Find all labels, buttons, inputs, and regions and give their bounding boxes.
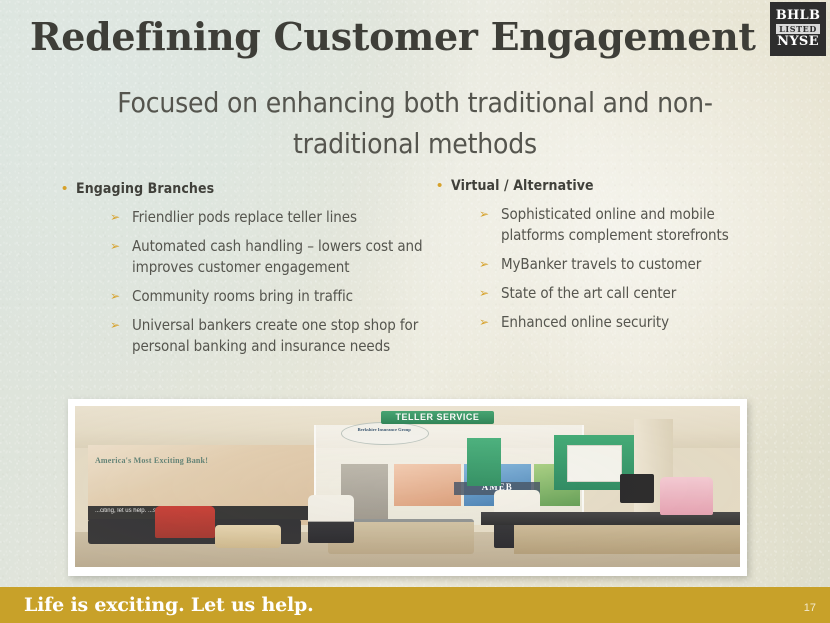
bullet-heading: • Virtual / Alternative [437, 177, 767, 195]
list-item: ➢ Enhanced online security [479, 312, 767, 333]
bullet-heading-label: Virtual / Alternative [451, 177, 594, 195]
page-subtitle: Focused on enhancing both traditional an… [85, 82, 745, 164]
arrow-bullet-icon: ➢ [110, 207, 132, 228]
list-item-label: Friendlier pods replace teller lines [132, 207, 357, 228]
list-item: ➢ State of the art call center [479, 283, 767, 304]
bullet-column-left: • Engaging Branches ➢ Friendlier pods re… [62, 180, 447, 365]
list-item: ➢ Community rooms bring in traffic [110, 286, 447, 307]
logo-ticker: BHLB [776, 9, 821, 23]
arrow-bullet-icon: ➢ [479, 283, 501, 304]
bullet-column-right: • Virtual / Alternative ➢ Sophisticated … [437, 177, 767, 341]
list-item-label: State of the art call center [501, 283, 676, 304]
footer-tagline: Life is exciting. Let us help. [24, 594, 314, 616]
arrow-bullet-icon: ➢ [479, 204, 501, 225]
list-item-label: Enhanced online security [501, 312, 669, 333]
branch-photo: America's Most Exciting Bank! ...citing,… [75, 406, 740, 567]
arrow-bullet-icon: ➢ [110, 236, 132, 257]
list-item-label: MyBanker travels to customer [501, 254, 701, 275]
arrow-bullet-icon: ➢ [479, 312, 501, 333]
list-item-label: Community rooms bring in traffic [132, 286, 353, 307]
branch-photo-frame: America's Most Exciting Bank! ...citing,… [68, 399, 747, 576]
list-item: ➢ Universal bankers create one stop shop… [110, 315, 447, 357]
list-item: ➢ Sophisticated online and mobile platfo… [479, 204, 767, 246]
arrow-bullet-icon: ➢ [110, 315, 132, 336]
photo-soft-overlay [75, 406, 740, 567]
bhlb-nyse-logo: BHLB LISTED NYSE [770, 2, 826, 56]
presentation-slide: Redefining Customer Engagement BHLB LIST… [0, 0, 830, 623]
list-item-label: Sophisticated online and mobile platform… [501, 204, 767, 246]
arrow-bullet-icon: ➢ [110, 286, 132, 307]
list-item: ➢ MyBanker travels to customer [479, 254, 767, 275]
bullet-heading: • Engaging Branches [62, 180, 447, 198]
logo-listed-label: LISTED [776, 24, 820, 34]
list-item: ➢ Automated cash handling – lowers cost … [110, 236, 447, 278]
list-item: ➢ Friendlier pods replace teller lines [110, 207, 447, 228]
bullet-heading-label: Engaging Branches [76, 180, 214, 198]
arrow-bullet-icon: ➢ [479, 254, 501, 275]
page-number: 17 [804, 602, 816, 614]
list-item-label: Automated cash handling – lowers cost an… [132, 236, 447, 278]
list-item-label: Universal bankers create one stop shop f… [132, 315, 447, 357]
bullet-dot-icon: • [62, 180, 76, 198]
page-title: Redefining Customer Engagement [30, 14, 760, 60]
footer-bar: Life is exciting. Let us help. 17 [0, 587, 830, 623]
bullet-dot-icon: • [437, 177, 451, 195]
logo-exchange: NYSE [777, 35, 819, 49]
